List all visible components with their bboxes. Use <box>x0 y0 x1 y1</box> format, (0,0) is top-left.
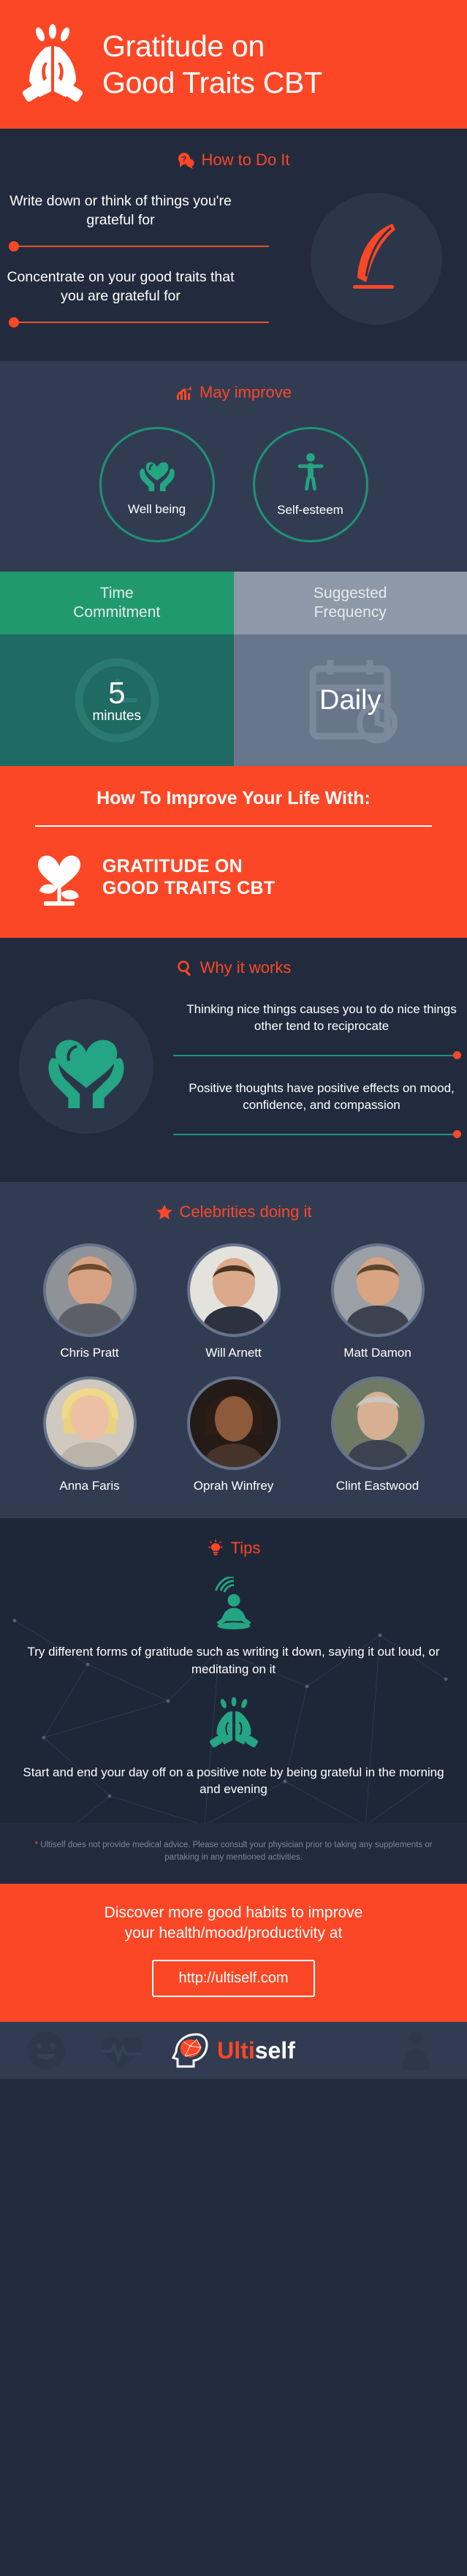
frequency-body: Daily <box>234 634 467 766</box>
disclaimer: * Ultiself does not provide medical advi… <box>0 1823 467 1884</box>
avatar <box>331 1243 425 1337</box>
time-header-line2: Commitment <box>73 603 160 622</box>
disclaimer-text: Ultiself does not provide medical advice… <box>40 1841 432 1862</box>
tips-heading: Tips <box>0 1539 467 1558</box>
why-reason-2: Positive thoughts have positive effects … <box>183 1080 460 1114</box>
why-reason-rule-2 <box>173 1134 458 1135</box>
time-unit: minutes <box>92 709 141 724</box>
cta-title: How To Improve Your Life With: <box>22 788 445 809</box>
person-suit-icon <box>400 2031 432 2074</box>
footer-cta-line1: Discover more good habits to improve <box>22 1903 445 1923</box>
cta-habit-name: GRATITUDE ON GOOD TRAITS CBT <box>102 855 275 900</box>
svg-text:?: ? <box>182 155 187 164</box>
avatar <box>187 1376 281 1470</box>
praying-hands-icon <box>19 1697 448 1754</box>
how-to-body: Write down or think of things you're gra… <box>0 189 467 335</box>
improve-item-self-esteem: Self-esteem <box>253 427 368 542</box>
avatar <box>43 1376 137 1470</box>
tips-heading-label: Tips <box>231 1539 261 1558</box>
celebrity-card: Chris Pratt <box>31 1243 148 1360</box>
celebrity-card: Matt Damon <box>319 1243 436 1360</box>
why-it-works-body: Thinking nice things causes you to do ni… <box>0 995 467 1151</box>
time-value: 5 <box>92 677 141 709</box>
logo-word-primary: Ulti <box>217 2037 255 2064</box>
header-title-line1: Gratitude on <box>102 28 322 64</box>
calendar-icon: Daily <box>295 653 405 748</box>
why-reason-1: Thinking nice things causes you to do ni… <box>183 1001 460 1035</box>
celebrity-card: Will Arnett <box>175 1243 292 1360</box>
improve-item-label: Well being <box>128 502 186 517</box>
heartbeat-icon <box>99 2032 143 2074</box>
celebrities-heading-label: Celebrities doing it <box>180 1202 312 1221</box>
cta-divider <box>35 825 432 827</box>
logo-word-secondary: self <box>255 2037 295 2064</box>
disclaimer-asterisk: * <box>35 1841 38 1849</box>
star-icon <box>156 1203 173 1221</box>
suggested-frequency-column: Suggested Frequency <box>234 572 467 766</box>
celebrity-card: Clint Eastwood <box>319 1376 436 1493</box>
hands-holding-heart-icon <box>19 999 153 1134</box>
may-improve-items: Well being Self-esteem <box>0 427 467 542</box>
may-improve-heading: May improve <box>0 383 467 402</box>
time-commitment-column: Time Commitment 5 minutes <box>0 572 234 766</box>
cta-row: GRATITUDE ON GOOD TRAITS CBT <box>22 846 445 909</box>
stats-section: Time Commitment 5 minutes <box>0 572 467 766</box>
praying-hands-icon <box>19 24 86 105</box>
why-it-works-section: Why it works Thinking nice things causes… <box>0 938 467 1182</box>
frequency-header: Suggested Frequency <box>234 572 467 634</box>
celebrity-card: Anna Faris <box>31 1376 148 1493</box>
how-to-step-rule-2 <box>13 322 269 323</box>
frequency-header-line1: Suggested <box>314 584 387 603</box>
how-to-heading-label: How to Do It <box>201 151 289 170</box>
header-title-line2: Good Traits CBT <box>102 64 322 101</box>
celebrities-section: Celebrities doing it Chris Pratt <box>0 1182 467 1518</box>
heart-flower-icon <box>32 846 86 909</box>
time-commitment-header: Time Commitment <box>0 572 234 634</box>
tip-text: Start and end your day off on a positive… <box>19 1764 448 1799</box>
clock-icon: 5 minutes <box>72 655 162 746</box>
brain-head-icon <box>172 2031 210 2069</box>
frequency-header-line2: Frequency <box>314 603 387 622</box>
celebrity-name: Clint Eastwood <box>319 1479 436 1493</box>
frequency-value: Daily <box>319 685 381 716</box>
smiley-icon <box>26 2031 66 2074</box>
tips-section: Tips Try different forms of gratitude su… <box>0 1518 467 1823</box>
logo-wordmark: Ultiself <box>217 2039 295 2062</box>
celebrity-name: Oprah Winfrey <box>175 1479 292 1493</box>
celebrities-heading: Celebrities doing it <box>0 1202 467 1221</box>
question-speech-bubble-icon: ? ? <box>177 151 194 169</box>
how-to-step-dot-2 <box>9 317 19 327</box>
how-to-section: ? ? How to Do It Write down or think of … <box>0 129 467 361</box>
tip-text: Try different forms of gratitude such as… <box>19 1643 448 1678</box>
meditating-person-icon <box>19 1577 448 1633</box>
may-improve-section: May improve Well being <box>0 361 467 572</box>
celebrity-name: Chris Pratt <box>31 1346 148 1360</box>
page-title: Gratitude on Good Traits CBT <box>102 28 322 101</box>
why-reason-dot-2 <box>453 1130 461 1138</box>
time-header-line1: Time <box>73 584 160 603</box>
celebrity-name: Will Arnett <box>175 1346 292 1360</box>
tip-item-1: Try different forms of gratitude such as… <box>0 1577 467 1678</box>
cta-name-line1: GRATITUDE ON <box>102 855 275 878</box>
footer-cta-line2: your health/mood/productivity at <box>22 1923 445 1944</box>
improve-item-well-being: Well being <box>99 427 215 542</box>
improve-item-label: Self-esteem <box>277 503 343 518</box>
why-reason-dot-1 <box>453 1051 461 1059</box>
how-to-heading: ? ? How to Do It <box>0 151 467 170</box>
footer-cta-section: Discover more good habits to improve you… <box>0 1884 467 2022</box>
avatar <box>331 1376 425 1470</box>
footer-cta-text: Discover more good habits to improve you… <box>22 1903 445 1944</box>
celebrity-grid: Chris Pratt Will Arnett <box>0 1243 467 1493</box>
avatar <box>187 1243 281 1337</box>
improve-life-cta-section: How To Improve Your Life With: GRATITUDE… <box>0 766 467 938</box>
how-to-step-rule-1 <box>13 246 269 247</box>
website-url-button[interactable]: http://ultiself.com <box>152 1960 314 1997</box>
avatar <box>43 1243 137 1337</box>
may-improve-heading-label: May improve <box>200 383 292 402</box>
logo-bar: Ultiself <box>0 2022 467 2079</box>
hands-holding-heart-icon <box>136 453 178 495</box>
quill-feather-icon <box>311 193 442 325</box>
how-to-step-2: Concentrate on your good traits that you… <box>0 268 241 306</box>
bar-chart-up-icon <box>175 384 193 401</box>
tip-item-2: Start and end your day off on a positive… <box>0 1697 467 1799</box>
magnifier-icon <box>176 959 194 977</box>
how-to-step-dot-1 <box>9 241 19 251</box>
why-reason-rule-1 <box>173 1055 458 1056</box>
celebrity-name: Anna Faris <box>31 1479 148 1493</box>
lightbulb-icon <box>207 1539 224 1557</box>
header: Gratitude on Good Traits CBT <box>0 0 467 129</box>
person-standing-icon <box>295 452 326 496</box>
why-it-works-heading-label: Why it works <box>200 958 292 977</box>
how-to-step-1: Write down or think of things you're gra… <box>0 192 241 230</box>
time-commitment-body: 5 minutes <box>0 634 234 766</box>
celebrity-name: Matt Damon <box>319 1346 436 1360</box>
celebrity-card: Oprah Winfrey <box>175 1376 292 1493</box>
why-it-works-heading: Why it works <box>0 958 467 977</box>
infographic-page: Gratitude on Good Traits CBT ? ? How to … <box>0 0 467 2079</box>
cta-name-line2: GOOD TRAITS CBT <box>102 877 275 900</box>
